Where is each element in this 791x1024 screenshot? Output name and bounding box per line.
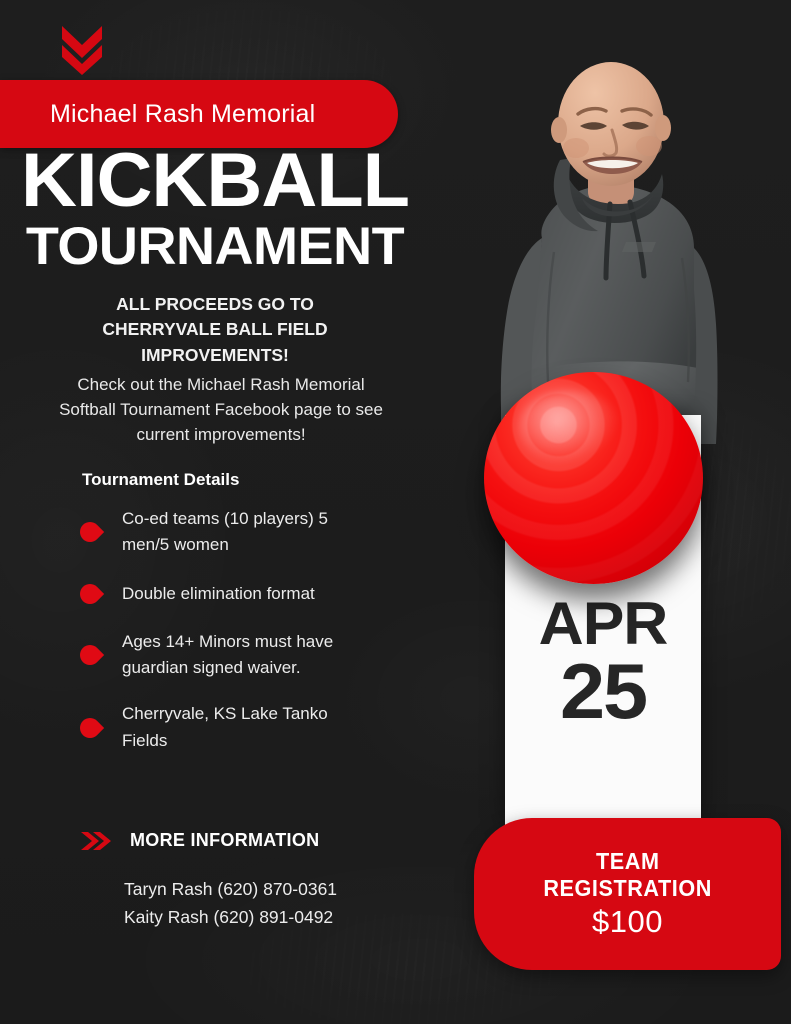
- chevron-down-double-icon: [60, 24, 104, 76]
- bullet-drop-icon: [76, 518, 104, 546]
- headline-group: KICKBALL TOURNAMENT: [0, 146, 430, 274]
- headline-tournament: TOURNAMENT: [0, 220, 434, 274]
- memorial-banner-label: Michael Rash Memorial: [50, 100, 315, 129]
- kickball-graphic: [484, 372, 703, 584]
- list-item-label: Double elimination format: [122, 581, 315, 607]
- details-list: Co-ed teams (10 players) 5 men/5 women D…: [80, 506, 400, 774]
- contact-list: Taryn Rash (620) 870-0361 Kaity Rash (62…: [124, 875, 337, 932]
- list-item-label: Co-ed teams (10 players) 5 men/5 women: [122, 506, 372, 559]
- list-item-label: Cherryvale, KS Lake Tanko Fields: [122, 701, 372, 754]
- poster-canvas: Michael Rash Memorial KICKBALL TOURNAMEN…: [0, 0, 791, 1024]
- registration-line-1: TEAM: [596, 848, 660, 875]
- contact-line: Kaity Rash (620) 891-0492: [124, 903, 337, 931]
- more-information-row: MORE INFORMATION: [80, 830, 319, 851]
- registration-block: TEAM REGISTRATION $100: [474, 818, 781, 970]
- date-month: APR: [501, 595, 705, 652]
- list-item-label: Ages 14+ Minors must have guardian signe…: [122, 629, 372, 682]
- more-information-label: MORE INFORMATION: [130, 830, 319, 851]
- headline-kickball: KICKBALL: [0, 146, 434, 216]
- list-item: Co-ed teams (10 players) 5 men/5 women: [80, 506, 400, 559]
- bullet-drop-icon: [76, 580, 104, 608]
- bullet-drop-icon: [76, 641, 104, 669]
- contact-line: Taryn Rash (620) 870-0361: [124, 875, 337, 903]
- list-item: Double elimination format: [80, 579, 400, 609]
- proceeds-statement: ALL PROCEEDS GO TO CHERRYVALE BALL FIELD…: [60, 292, 370, 368]
- bullet-drop-icon: [76, 714, 104, 742]
- kickball-highlight: [519, 391, 620, 463]
- registration-price: $100: [592, 904, 663, 940]
- details-heading: Tournament Details: [82, 470, 239, 490]
- date-panel-content: APR 25: [505, 595, 701, 728]
- registration-line-2: REGISTRATION: [543, 875, 712, 902]
- date-day: 25: [501, 654, 705, 728]
- list-item: Ages 14+ Minors must have guardian signe…: [80, 629, 400, 682]
- list-item: Cherryvale, KS Lake Tanko Fields: [80, 701, 400, 754]
- facebook-note: Check out the Michael Rash Memorial Soft…: [48, 372, 394, 447]
- chevron-right-double-icon: [80, 831, 112, 851]
